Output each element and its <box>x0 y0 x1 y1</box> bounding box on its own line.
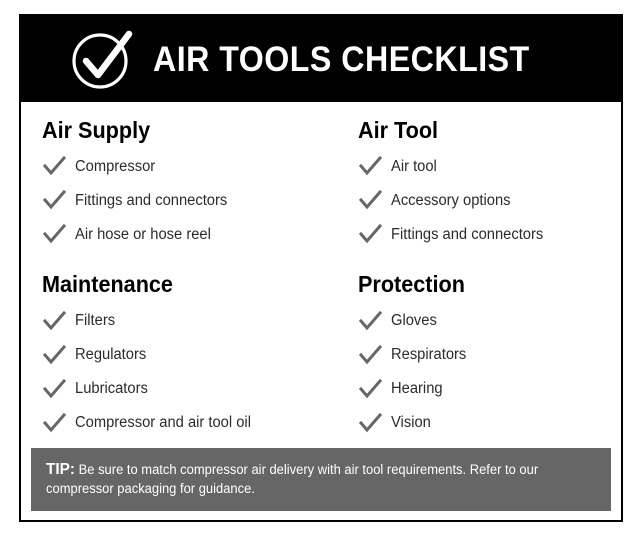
checkmark-icon <box>42 413 66 433</box>
checkmark-icon <box>358 345 382 365</box>
section-protection: Protection Gloves <box>358 272 621 439</box>
list-item[interactable]: Fittings and connectors <box>42 183 346 217</box>
list-item-label: Fittings and connectors <box>391 227 543 243</box>
list-item-label: Fittings and connectors <box>75 193 227 209</box>
checkmark-icon <box>358 311 382 331</box>
circle-check-icon <box>69 26 135 92</box>
list-item[interactable]: Lubricators <box>42 372 346 406</box>
list-item-label: Gloves <box>391 313 437 329</box>
check-list-air-supply: Compressor Fittings and connectors <box>42 149 346 251</box>
list-item[interactable]: Compressor and air tool oil <box>42 406 346 440</box>
tip-banner: TIP: Be sure to match compressor air del… <box>31 448 611 512</box>
list-item-label: Lubricators <box>75 381 148 397</box>
list-item-label: Compressor and air tool oil <box>75 415 251 431</box>
checkmark-icon <box>42 311 66 331</box>
checkmark-icon <box>42 156 66 176</box>
checklist-column-left: Air Supply Compressor <box>21 118 346 448</box>
checkmark-icon <box>42 345 66 365</box>
checklist-column-right: Air Tool Air tool <box>346 118 621 448</box>
checkmark-icon <box>358 413 382 433</box>
check-list-protection: Gloves Respirators <box>358 304 621 440</box>
section-title-air-supply: Air Supply <box>42 118 328 143</box>
checkmark-icon <box>358 379 382 399</box>
list-item-label: Regulators <box>75 347 146 363</box>
checkmark-icon <box>42 379 66 399</box>
list-item[interactable]: Compressor <box>42 149 346 183</box>
section-maintenance: Maintenance Filters <box>42 272 346 439</box>
checkmark-icon <box>42 224 66 244</box>
card-header: AIR TOOLS CHECKLIST <box>21 16 621 102</box>
section-title-protection: Protection <box>358 272 605 297</box>
section-title-air-tool: Air Tool <box>358 118 605 143</box>
section-title-maintenance: Maintenance <box>42 272 328 297</box>
list-item[interactable]: Air hose or hose reel <box>42 217 346 251</box>
checkmark-icon <box>42 190 66 210</box>
checkmark-icon <box>358 190 382 210</box>
list-item[interactable]: Filters <box>42 304 346 338</box>
list-item[interactable]: Accessory options <box>358 183 621 217</box>
checklist-body: Air Supply Compressor <box>21 102 621 448</box>
list-item[interactable]: Respirators <box>358 338 621 372</box>
list-item[interactable]: Vision <box>358 406 621 440</box>
list-item-label: Filters <box>75 313 115 329</box>
tip-body: Be sure to match compressor air delivery… <box>46 462 538 497</box>
section-air-tool: Air Tool Air tool <box>358 118 621 251</box>
tip-label: TIP: <box>46 461 75 478</box>
list-item[interactable]: Hearing <box>358 372 621 406</box>
section-air-supply: Air Supply Compressor <box>42 118 346 251</box>
list-item[interactable]: Fittings and connectors <box>358 217 621 251</box>
page-title: AIR TOOLS CHECKLIST <box>153 42 530 77</box>
list-item[interactable]: Gloves <box>358 304 621 338</box>
list-item[interactable]: Air tool <box>358 149 621 183</box>
list-item-label: Accessory options <box>391 193 510 209</box>
list-item-label: Compressor <box>75 159 155 175</box>
list-item-label: Air tool <box>391 159 437 175</box>
check-list-maintenance: Filters Regulators <box>42 304 346 440</box>
checkmark-icon <box>358 156 382 176</box>
list-item-label: Air hose or hose reel <box>75 227 211 243</box>
tip-text: TIP: Be sure to match compressor air del… <box>46 459 574 499</box>
list-item-label: Hearing <box>391 381 443 397</box>
list-item-label: Vision <box>391 415 431 431</box>
check-list-air-tool: Air tool Accessory options <box>358 149 621 251</box>
list-item-label: Respirators <box>391 347 466 363</box>
checkmark-icon <box>358 224 382 244</box>
list-item[interactable]: Regulators <box>42 338 346 372</box>
air-tools-checklist-card: AIR TOOLS CHECKLIST Air Supply Compresso… <box>19 14 623 522</box>
